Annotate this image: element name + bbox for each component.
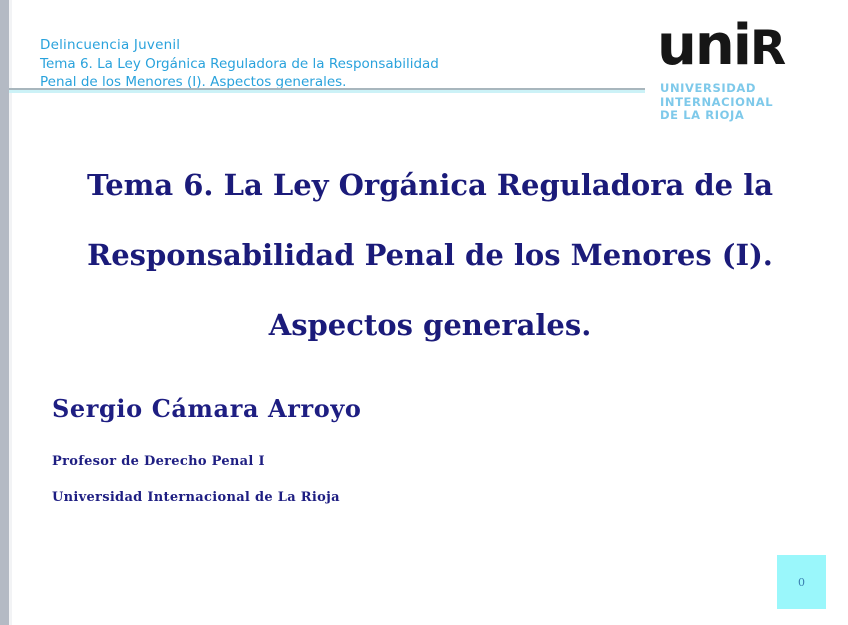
unir-logo: uniR UNIVERSIDAD INTERNACIONAL DE LA RIO… <box>651 18 841 128</box>
logo-subtitle-line-2: INTERNACIONAL <box>660 96 841 110</box>
header-line-topic: Tema 6. La Ley Orgánica Reguladora de la… <box>40 55 620 74</box>
logo-subtitle-line-1: UNIVERSIDAD <box>660 82 841 96</box>
author-name: Sergio Cámara Arroyo <box>52 394 362 423</box>
unir-wordmark-icon: uniR <box>651 18 841 77</box>
unir-wordmark-r: R <box>750 21 785 76</box>
page-number-badge: 0 <box>777 555 826 609</box>
author-role: Profesor de Derecho Penal I <box>52 454 265 469</box>
unir-wordmark-text: uni <box>657 13 750 78</box>
page-number-value: 0 <box>798 576 805 589</box>
slide-title-line-2: Responsabilidad Penal de los Menores (I)… <box>52 220 808 290</box>
header-divider-accent <box>9 90 645 93</box>
slide-header: Delincuencia Juvenil Tema 6. La Ley Orgá… <box>40 36 620 92</box>
logo-subtitle-line-3: DE LA RIOJA <box>660 109 841 123</box>
left-gutter-bar[interactable] <box>0 0 9 625</box>
slide-canvas: Delincuencia Juvenil Tema 6. La Ley Orgá… <box>12 0 848 625</box>
slide-title-line-3: Aspectos generales. <box>52 290 808 360</box>
slide-title: Tema 6. La Ley Orgánica Reguladora de la… <box>52 150 808 360</box>
slide-viewer: Delincuencia Juvenil Tema 6. La Ley Orgá… <box>0 0 848 625</box>
unir-logo-subtitle: UNIVERSIDAD INTERNACIONAL DE LA RIOJA <box>651 82 841 123</box>
slide-title-line-1: Tema 6. La Ley Orgánica Reguladora de la <box>52 150 808 220</box>
author-organization: Universidad Internacional de La Rioja <box>52 490 340 505</box>
header-line-course: Delincuencia Juvenil <box>40 36 620 55</box>
